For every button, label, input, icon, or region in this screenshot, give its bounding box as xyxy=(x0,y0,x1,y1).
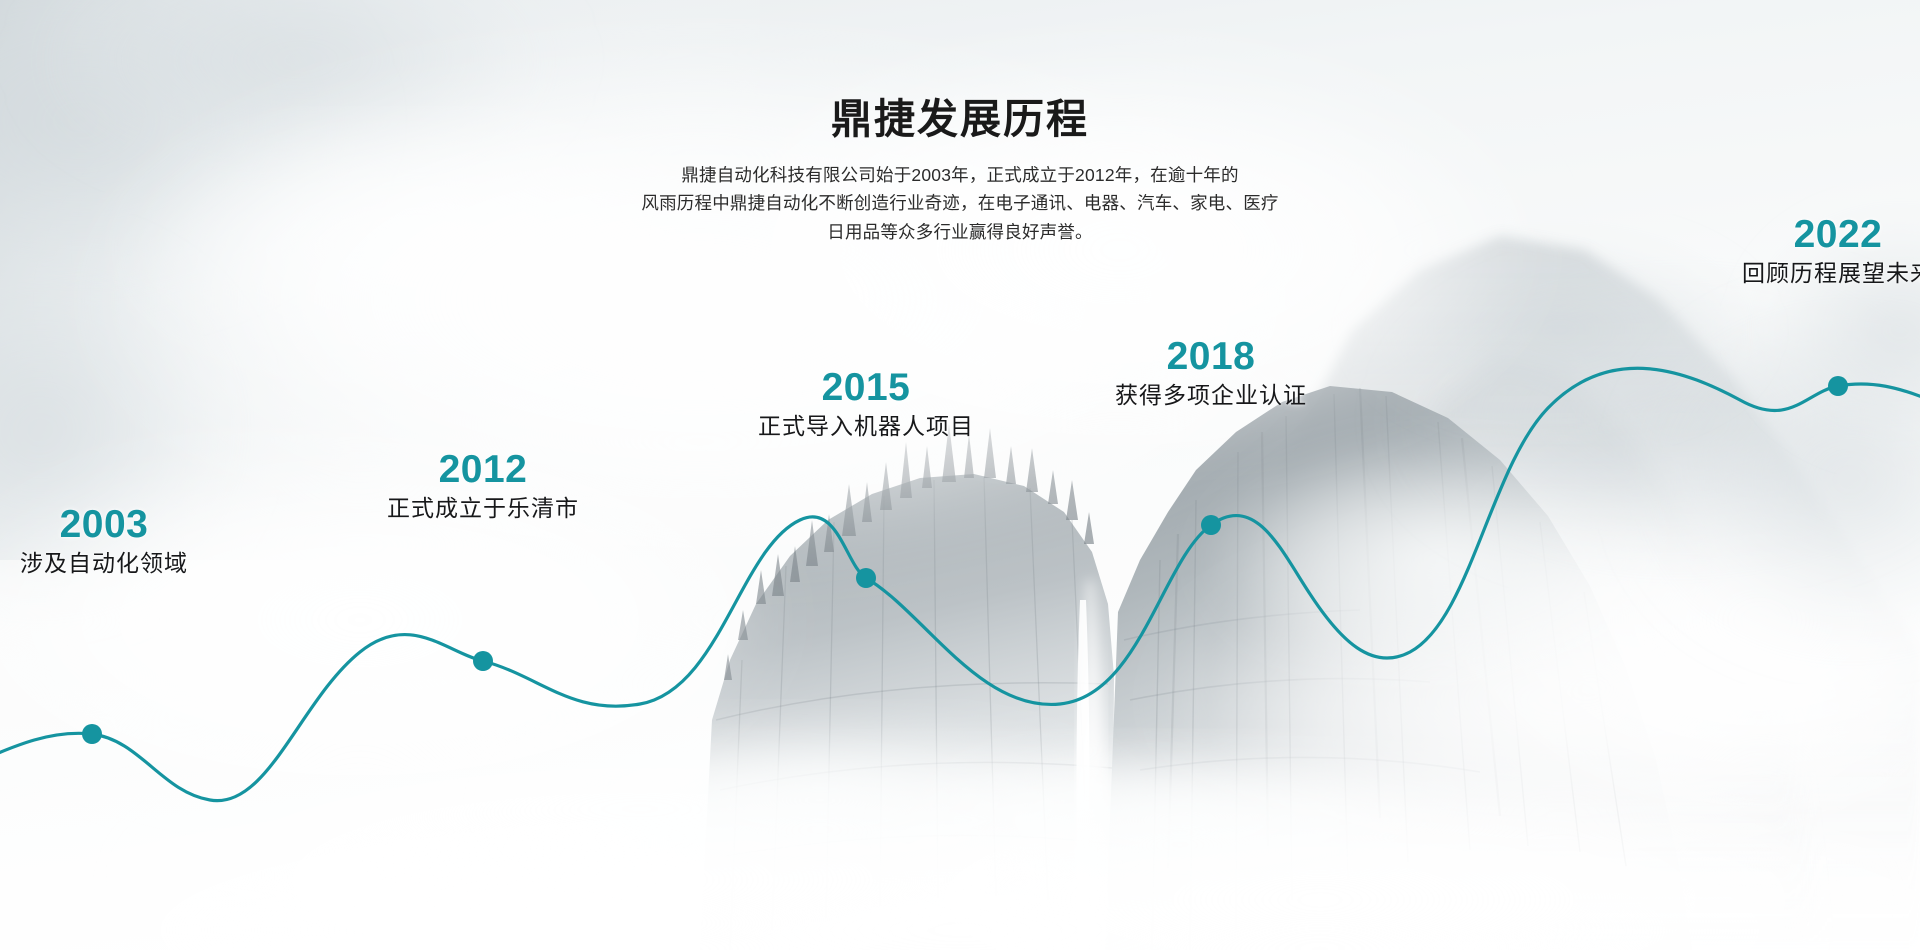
milestone-2012[interactable]: 2012正式成立于乐清市 xyxy=(387,450,579,523)
milestone-2022[interactable]: 2022回顾历程展望未来 xyxy=(1742,215,1920,288)
slide-canvas: 鼎捷发展历程 鼎捷自动化科技有限公司始于2003年，正式成立于2012年，在逾十… xyxy=(0,0,1920,950)
milestone-desc-2012: 正式成立于乐清市 xyxy=(387,495,579,523)
milestone-year-2018: 2018 xyxy=(1115,337,1307,378)
timeline-dot-2022[interactable] xyxy=(1828,376,1848,396)
milestone-year-2022: 2022 xyxy=(1742,215,1920,256)
timeline-dot-2018[interactable] xyxy=(1201,515,1221,535)
milestone-year-2012: 2012 xyxy=(387,450,579,491)
milestone-2015[interactable]: 2015正式导入机器人项目 xyxy=(758,368,974,441)
milestone-year-2015: 2015 xyxy=(758,368,974,409)
milestone-2003[interactable]: 2003涉及自动化领域 xyxy=(20,505,188,578)
timeline-dot-2003[interactable] xyxy=(82,724,102,744)
milestone-2018[interactable]: 2018获得多项企业认证 xyxy=(1115,337,1307,410)
milestone-year-2003: 2003 xyxy=(20,505,188,546)
timeline-dot-2012[interactable] xyxy=(473,651,493,671)
timeline-curve xyxy=(0,0,1920,950)
milestone-desc-2015: 正式导入机器人项目 xyxy=(758,413,974,441)
milestone-desc-2003: 涉及自动化领域 xyxy=(20,550,188,578)
milestone-desc-2022: 回顾历程展望未来 xyxy=(1742,260,1920,288)
milestone-desc-2018: 获得多项企业认证 xyxy=(1115,382,1307,410)
timeline-dot-2015[interactable] xyxy=(856,568,876,588)
